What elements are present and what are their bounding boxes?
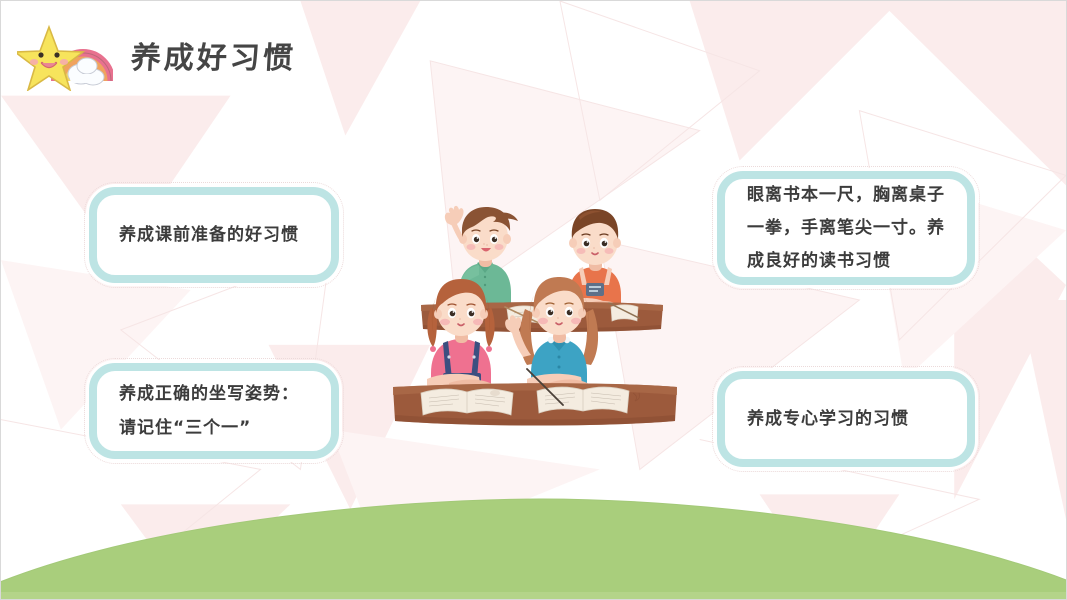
desk-back [421,302,663,332]
student-back-left [445,206,518,309]
student-back-right [567,209,623,313]
callout-text-3: 眼离书本一尺，胸离桌子一拳，手离笔尖一寸。养成良好的读书习惯 [725,179,967,278]
callout-text-1: 养成课前准备的好习惯 [97,218,321,252]
slide-canvas: 养成好习惯 [0,0,1067,600]
student-front-left [427,279,497,395]
callout-text-4: 养成专心学习的习惯 [725,402,931,436]
student-front-right [505,277,598,394]
desk-front [393,369,677,426]
slide-header: 养成好习惯 [17,17,296,93]
star-rainbow-cloud-icon [17,19,113,91]
four-students-at-desks-illustration [387,197,687,449]
callout-box-2[interactable]: 养成正确的坐写姿势：请记住“三个一” [89,363,339,459]
callout-box-3[interactable]: 眼离书本一尺，胸离桌子一拳，手离笔尖一寸。养成良好的读书习惯 [717,171,975,285]
page-title: 养成好习惯 [130,33,297,77]
callout-text-2: 养成正确的坐写姿势：请记住“三个一” [97,377,331,445]
green-hill-decoration [1,479,1067,599]
callout-box-1[interactable]: 养成课前准备的好习惯 [89,187,339,283]
callout-box-4[interactable]: 养成专心学习的习惯 [717,371,975,467]
